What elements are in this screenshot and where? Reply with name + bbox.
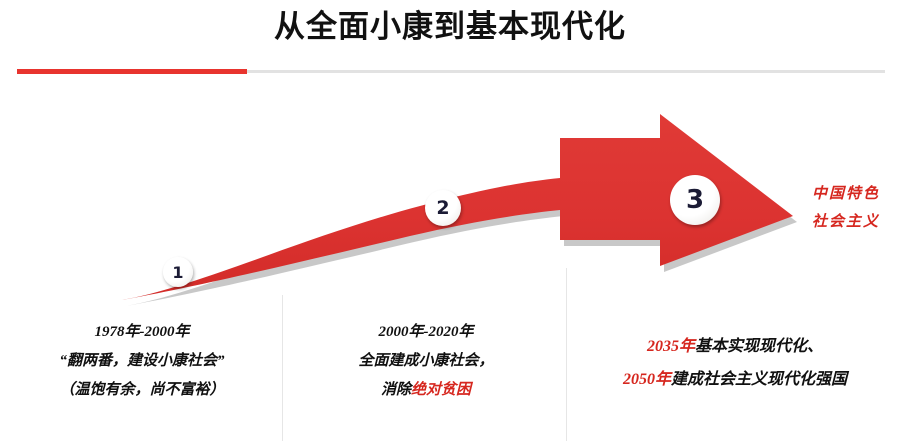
caption-3-goal-2035: 基本实现现代化、 bbox=[695, 338, 823, 355]
step-marker-1[interactable]: 1 bbox=[163, 257, 193, 287]
caption-2-slogan: 全面建成小康社会， bbox=[290, 347, 562, 376]
column-divider-1 bbox=[282, 295, 283, 441]
caption-3-goal-2050: 建成社会主义现代化强国 bbox=[671, 371, 847, 388]
step-marker-1-number: 1 bbox=[172, 263, 183, 282]
caption-1-period: 1978年-2000年 bbox=[6, 318, 278, 347]
title-underline bbox=[17, 69, 885, 73]
page-title: 从全面小康到基本现代化 bbox=[0, 8, 900, 46]
title-underline-red bbox=[17, 69, 247, 74]
caption-3-year-2050: 2050年 bbox=[623, 371, 671, 388]
caption-3-line2: 2050年建成社会主义现代化强国 bbox=[572, 363, 898, 396]
step-marker-3[interactable]: 3 bbox=[670, 175, 720, 225]
caption-3-line1: 2035年基本实现现代化、 bbox=[572, 330, 898, 363]
arrow-end-label-line1: 中国特色 bbox=[812, 180, 900, 208]
step-marker-2-number: 2 bbox=[436, 197, 449, 219]
caption-2-period: 2000年-2020年 bbox=[290, 318, 562, 347]
arrow-end-label: 中国特色 社会主义 bbox=[812, 180, 900, 236]
step-marker-3-number: 3 bbox=[686, 185, 704, 215]
caption-2-goal-highlight: 绝对贫困 bbox=[411, 382, 471, 398]
caption-2-goal-prefix: 消除 bbox=[381, 382, 411, 398]
column-divider-2 bbox=[566, 268, 567, 441]
caption-2-goal: 消除绝对贫困 bbox=[290, 376, 562, 405]
slide-canvas: 从全面小康到基本现代化 1 2 3 中国特色 社会主义 bbox=[0, 0, 900, 447]
caption-column-1: 1978年-2000年 “翻两番，建设小康社会” （温饱有余，尚不富裕） bbox=[6, 318, 278, 405]
step-marker-2[interactable]: 2 bbox=[425, 190, 461, 226]
caption-column-2: 2000年-2020年 全面建成小康社会， 消除绝对贫困 bbox=[290, 318, 562, 405]
caption-3-year-2035: 2035年 bbox=[647, 338, 695, 355]
arrow-end-label-line2: 社会主义 bbox=[812, 208, 900, 236]
caption-1-slogan: “翻两番，建设小康社会” bbox=[6, 347, 278, 376]
caption-column-3: 2035年基本实现现代化、 2050年建成社会主义现代化强国 bbox=[572, 330, 898, 396]
caption-1-note: （温饱有余，尚不富裕） bbox=[6, 376, 278, 405]
